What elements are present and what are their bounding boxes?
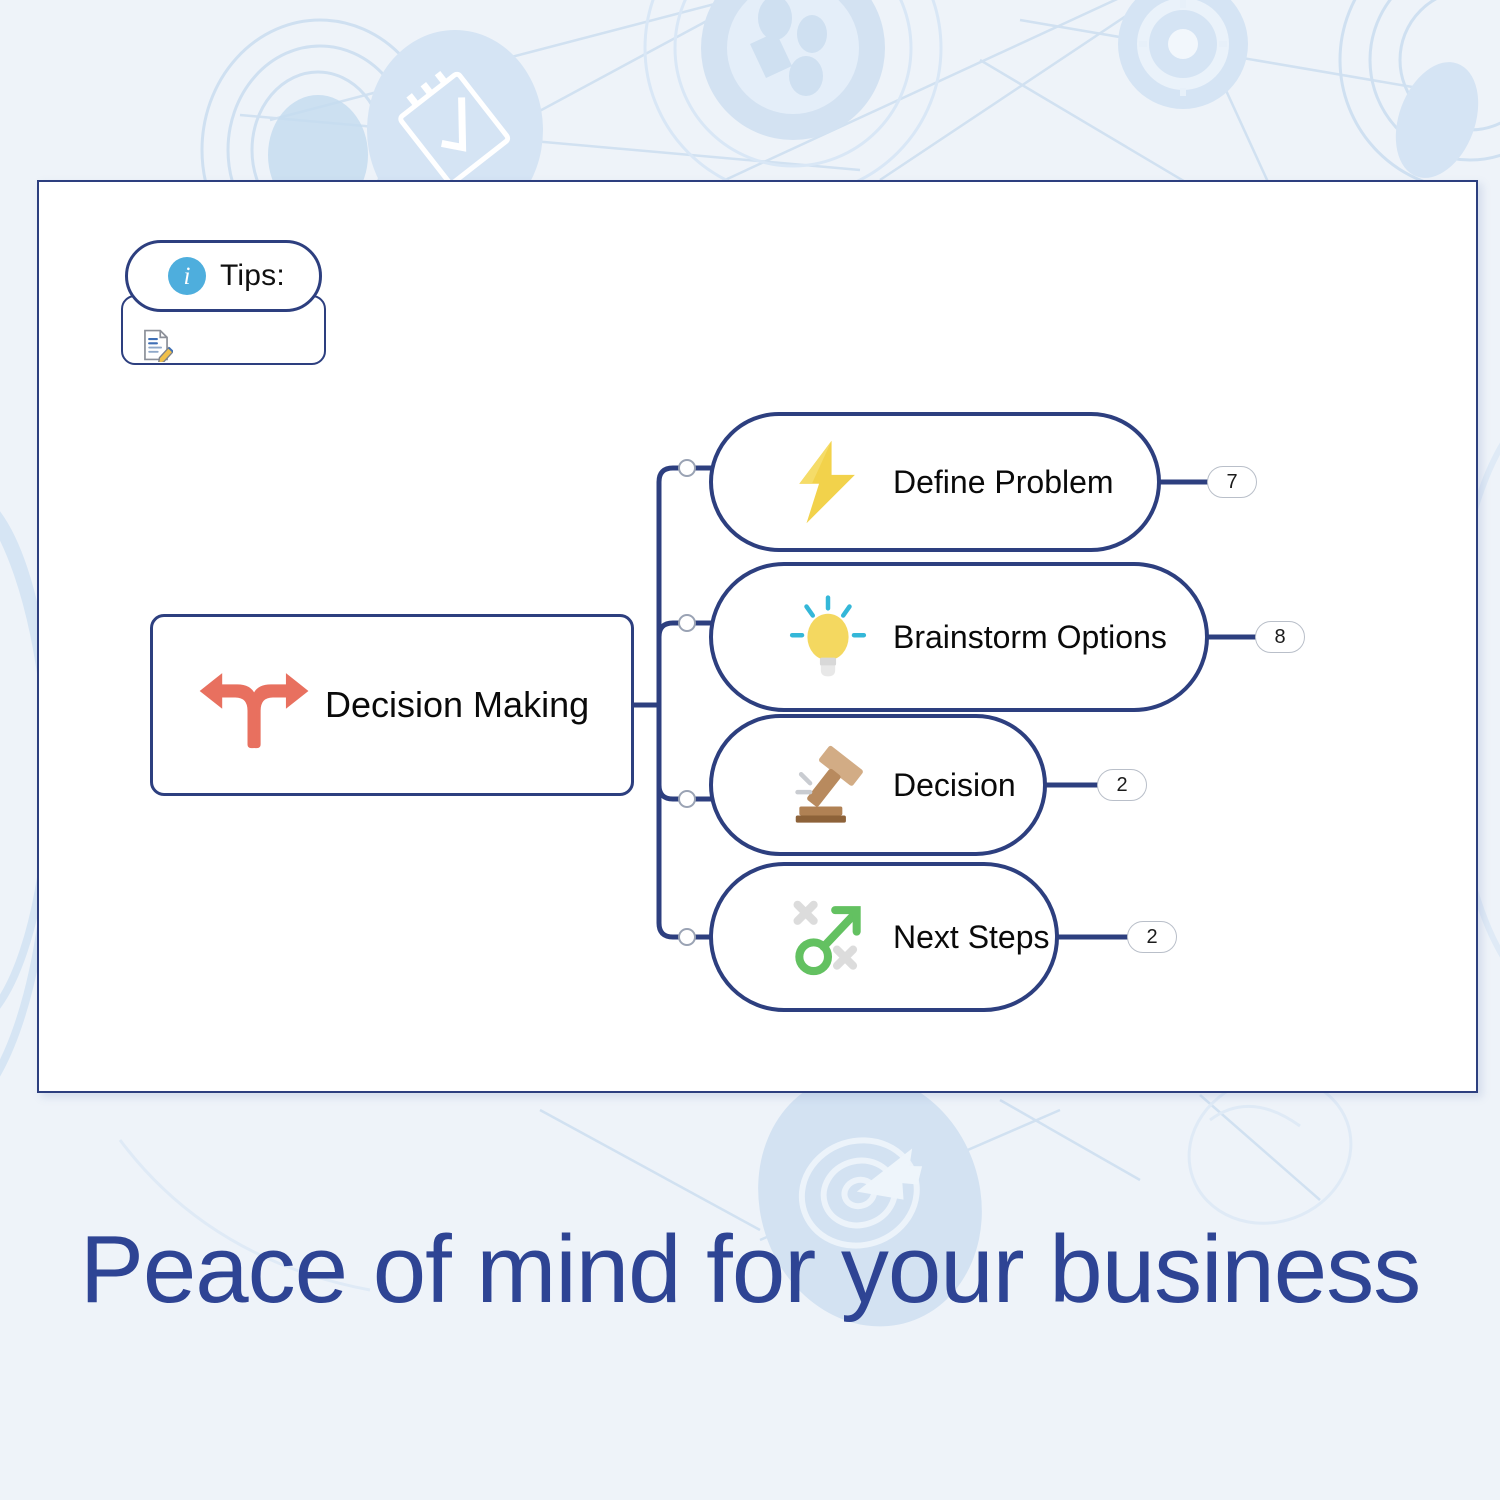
lightning-bolt-icon <box>785 439 871 525</box>
info-icon: i <box>168 257 206 295</box>
node-label: Decision <box>893 767 1016 804</box>
tips-label: Tips: <box>220 259 285 293</box>
node-label: Brainstorm Options <box>893 619 1167 656</box>
tips-box[interactable]: i Tips: <box>121 240 326 365</box>
node-label: Next Steps <box>893 919 1050 956</box>
node-decision[interactable]: Decision <box>709 714 1047 856</box>
poster-stage: i Tips: <box>0 0 1500 1500</box>
node-brainstorm-options[interactable]: Brainstorm Options <box>709 562 1209 712</box>
gavel-icon <box>785 742 871 828</box>
tips-header[interactable]: i Tips: <box>125 240 322 312</box>
strategy-arrow-icon <box>785 894 871 980</box>
tagline: Peace of mind for your business <box>0 1215 1500 1325</box>
node-label: Define Problem <box>893 464 1114 501</box>
node-next-steps[interactable]: Next Steps <box>709 862 1059 1012</box>
node-decision-making[interactable]: Decision Making <box>150 614 634 796</box>
document-edit-icon[interactable] <box>139 328 173 362</box>
badge-count-next-steps[interactable]: 2 <box>1127 921 1177 953</box>
fork-arrows-icon <box>195 660 315 750</box>
node-define-problem[interactable]: Define Problem <box>709 412 1161 552</box>
badge-count-decision[interactable]: 2 <box>1097 769 1147 801</box>
badge-count-define-problem[interactable]: 7 <box>1207 466 1257 498</box>
lightbulb-icon <box>785 594 871 680</box>
badge-count-brainstorm-options[interactable]: 8 <box>1255 621 1305 653</box>
node-label: Decision Making <box>325 684 589 726</box>
